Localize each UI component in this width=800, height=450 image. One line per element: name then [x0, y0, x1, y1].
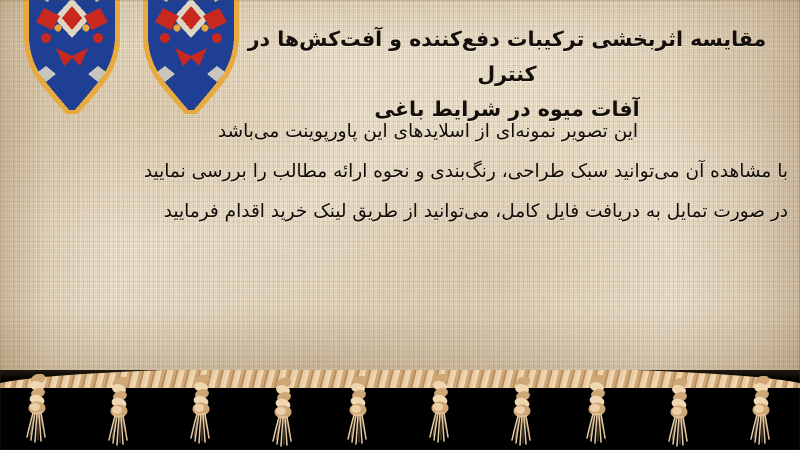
carpet-motif-icon: [16, 0, 128, 114]
fringe-tassel: [507, 377, 537, 449]
body-line: با مشاهده آن می‌توانید سبک طراحی، رنگ‌بن…: [28, 152, 788, 192]
fringe-tassel: [343, 376, 373, 448]
fringe-tassel: [664, 378, 694, 450]
fringe-tassel: [22, 374, 52, 446]
body-line: در صورت تمایل به دریافت فایل کامل، می‌تو…: [28, 192, 788, 232]
fringe-tassel: [746, 376, 776, 448]
slide-canvas: مقایسه اثربخشی ترکیبات دفع‌کننده و آفت‌ک…: [0, 0, 800, 450]
body-line: این تصویر نمونه‌ای از اسلایدهای این پاور…: [28, 112, 788, 152]
fringe-tassel: [104, 377, 134, 449]
fringe-tassel: [186, 375, 216, 447]
fringe-tassel: [582, 375, 612, 447]
carpet-motif-icon: [135, 0, 247, 114]
fringe-tassel: [425, 374, 455, 446]
carpet-fringe-band: [0, 370, 800, 450]
slide-body-text: این تصویر نمونه‌ای از اسلایدهای این پاور…: [28, 112, 788, 231]
fringe-tassel: [268, 378, 298, 450]
